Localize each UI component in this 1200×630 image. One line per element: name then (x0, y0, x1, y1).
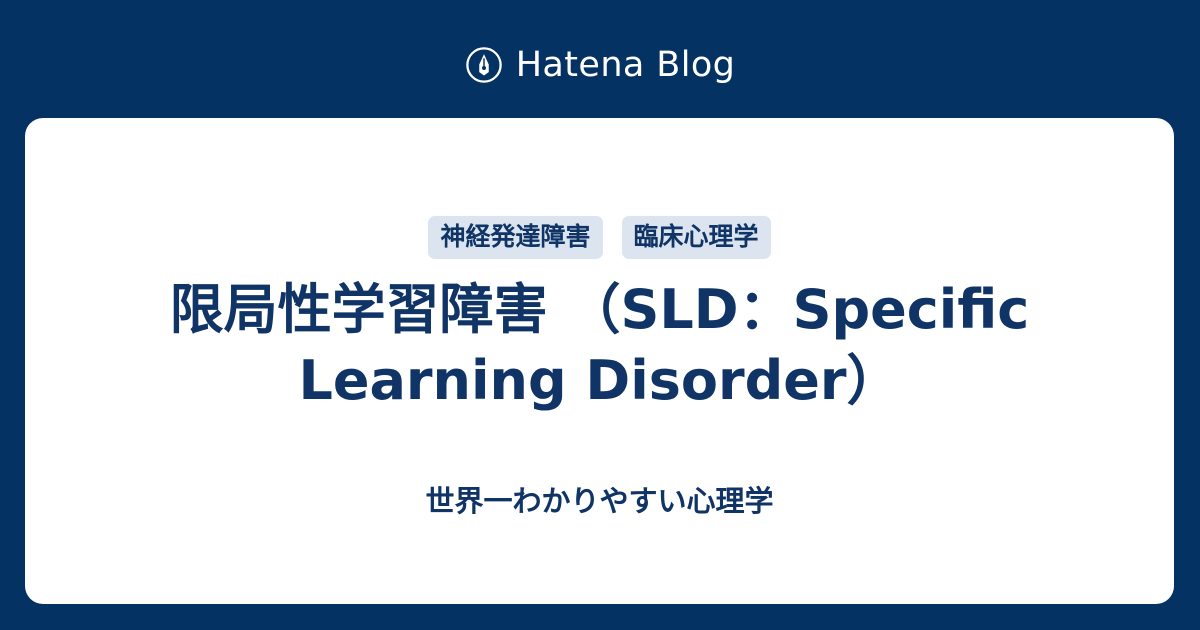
blog-title: 世界一わかりやすい心理学 (425, 487, 773, 516)
brand-name-label: Hatena Blog (516, 48, 736, 83)
tag-item[interactable]: 臨床心理学 (622, 216, 771, 259)
fountain-pen-nib-in-circle-icon (465, 46, 503, 84)
entry-card: 神経発達障害 臨床心理学 限局性学習障害 （SLD：Specific Learn… (25, 118, 1174, 604)
hatena-blog-logo (465, 46, 503, 84)
entry-title: 限局性学習障害 （SLD：Specific Learning Disorder） (25, 274, 1174, 417)
brand-header: Hatena Blog (0, 40, 1200, 90)
tag-item[interactable]: 神経発達障害 (428, 216, 602, 259)
tag-list: 神経発達障害 臨床心理学 (428, 217, 770, 257)
ogp-card-root: Hatena Blog 神経発達障害 臨床心理学 限局性学習障害 （SLD：Sp… (0, 0, 1200, 630)
